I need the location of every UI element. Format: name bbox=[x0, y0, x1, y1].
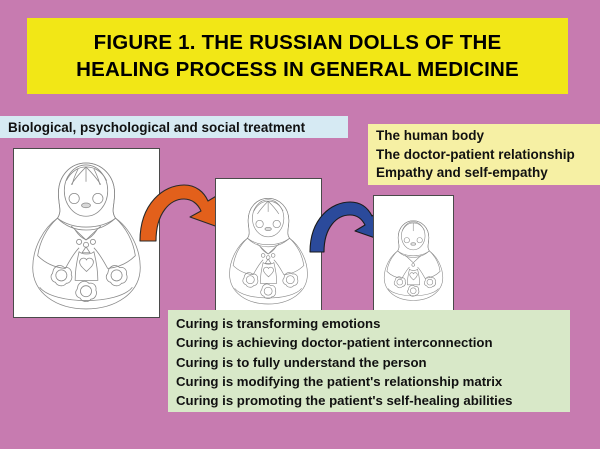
bottom-list-line-3: Curing is to fully understand the person bbox=[176, 353, 570, 372]
bottom-list-line-1: Curing is transforming emotions bbox=[176, 314, 570, 333]
right-note-box: The human body The doctor-patient relati… bbox=[368, 124, 600, 185]
left-caption-box: Biological, psychological and social tre… bbox=[0, 116, 348, 138]
bottom-list-box: Curing is transforming emotions Curing i… bbox=[168, 310, 570, 412]
matryoshka-small-illustration bbox=[374, 196, 453, 322]
right-note-line-3: Empathy and self-empathy bbox=[376, 164, 600, 183]
bottom-list-line-5: Curing is promoting the patient's self-h… bbox=[176, 391, 570, 410]
right-note-line-1: The human body bbox=[376, 127, 600, 146]
page-title-line-1: FIGURE 1. THE RUSSIAN DOLLS OF THE bbox=[94, 29, 502, 56]
bottom-list-line-4: Curing is modifying the patient's relati… bbox=[176, 372, 570, 391]
matryoshka-small-panel bbox=[373, 195, 454, 323]
right-note-line-2: The doctor-patient relationship bbox=[376, 146, 600, 165]
bottom-list-line-2: Curing is achieving doctor-patient inter… bbox=[176, 333, 570, 352]
left-caption-text: Biological, psychological and social tre… bbox=[8, 120, 305, 135]
matryoshka-medium-illustration bbox=[216, 179, 321, 319]
figure-canvas: FIGURE 1. THE RUSSIAN DOLLS OF THE HEALI… bbox=[0, 0, 600, 449]
matryoshka-medium-panel bbox=[215, 178, 322, 320]
page-title-line-2: HEALING PROCESS IN GENERAL MEDICINE bbox=[76, 56, 519, 83]
figure-title-banner: FIGURE 1. THE RUSSIAN DOLLS OF THE HEALI… bbox=[27, 18, 568, 94]
